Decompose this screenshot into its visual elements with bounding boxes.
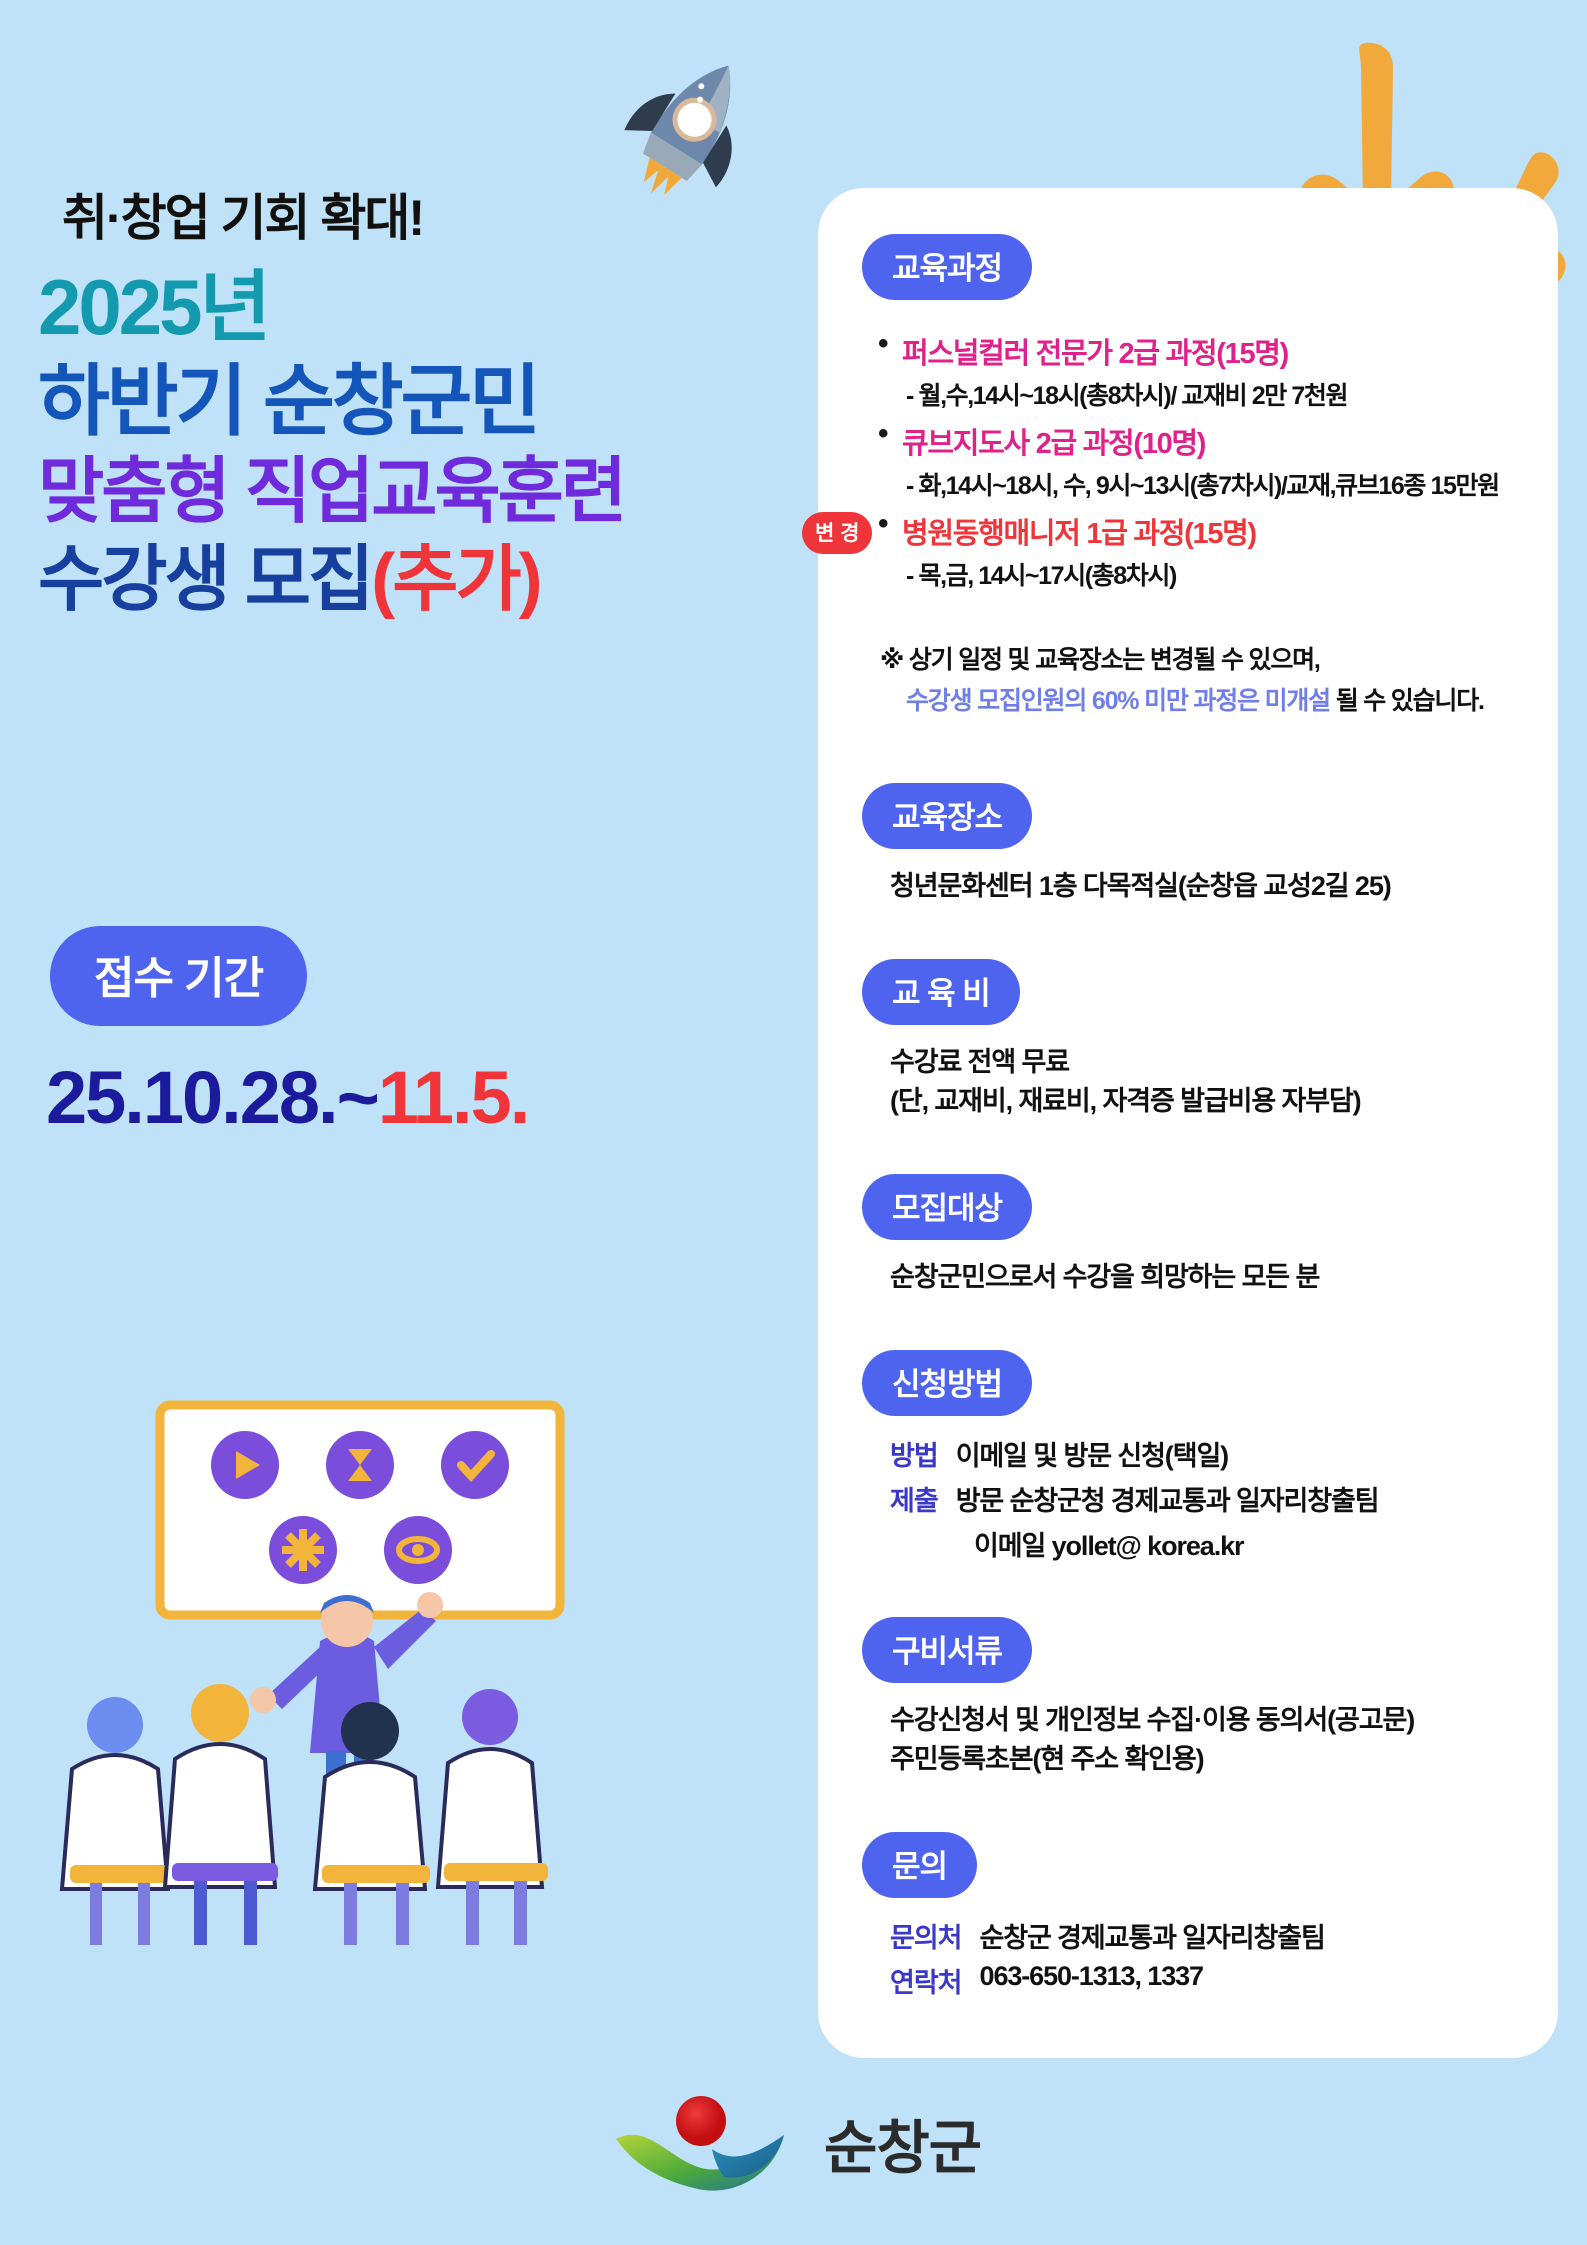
section-documents: 구비서류 수강신청서 및 개인정보 수집·이용 동의서(공고문) 주민등록초본(… (862, 1617, 1514, 1778)
note-tail: 될 수 있습니다. (1330, 687, 1484, 715)
course-name: 퍼스널컬러 전문가 2급 과정(15명) (876, 330, 1514, 372)
pill-target: 모집대상 (862, 1174, 1032, 1240)
pill-documents: 구비서류 (862, 1617, 1032, 1683)
period-label-pill: 접수 기간 (50, 926, 307, 1026)
documents-line-2: 주민등록초본(현 주소 확인용) (890, 1740, 1508, 1778)
pill-contact: 문의 (862, 1832, 977, 1898)
apply-row-method: 방법 이메일 및 방문 신청(택일) (890, 1434, 1508, 1473)
period-dates: 25.10.28.~11.5. (46, 1055, 528, 1140)
contact-key: 문의처 (890, 1916, 962, 1955)
footer: 순창군 (0, 2083, 1587, 2203)
course-item: 큐브지도사 2급 과정(10명) - 화,14시~18시, 수, 9시~13시(… (876, 420, 1514, 502)
info-card: 교육과정 퍼스널컬러 전문가 2급 과정(15명) - 월,수,14시~18시(… (818, 188, 1558, 2058)
course-detail: - 월,수,14시~18시(총8차시)/ 교재비 2만 7천원 (876, 376, 1514, 412)
title-line-region: 하반기 순창군민 (38, 362, 624, 440)
fee-body: 수강료 전액 무료 (단, 교재비, 재료비, 자격증 발급비용 자부담) (862, 1025, 1514, 1120)
poster-kicker: 취·창업 기회 확대! (62, 178, 423, 250)
section-apply: 신청방법 방법 이메일 및 방문 신청(택일) 제출 방문 순창군청 경제교통과… (862, 1350, 1514, 1563)
title-recruit-main: 수강생 모집 (38, 540, 371, 620)
apply-row-submit: 제출 방문 순창군청 경제교통과 일자리창출팀 (890, 1479, 1508, 1518)
curriculum-note: ※ 상기 일정 및 교육장소는 변경될 수 있으며, 수강생 모집인원의 60%… (862, 600, 1514, 717)
title-line-year: 2025년 (38, 268, 624, 346)
contact-value: 063-650-1313, 1337 (980, 1961, 1203, 2000)
apply-key: 방법 (890, 1434, 938, 1473)
documents-body: 수강신청서 및 개인정보 수집·이용 동의서(공고문) 주민등록초본(현 주소 … (862, 1683, 1514, 1778)
target-text: 순창군민으로서 수강을 희망하는 모든 분 (890, 1258, 1508, 1296)
note-line-1: ※ 상기 일정 및 교육장소는 변경될 수 있으며, (880, 640, 1514, 676)
target-body: 순창군민으로서 수강을 희망하는 모든 분 (862, 1240, 1514, 1296)
classroom-presentation-illustration (20, 1395, 740, 1955)
note-line-2: 수강생 모집인원의 60% 미만 과정은 미개설 될 수 있습니다. (880, 681, 1514, 717)
section-fee: 교 육 비 수강료 전액 무료 (단, 교재비, 재료비, 자격증 발급비용 자… (862, 959, 1514, 1120)
fee-line-1: 수강료 전액 무료 (890, 1043, 1508, 1081)
section-curriculum: 교육과정 퍼스널컬러 전문가 2급 과정(15명) - 월,수,14시~18시(… (862, 234, 1514, 717)
course-detail: - 화,14시~18시, 수, 9시~13시(총7차시)/교재,큐브16종 15… (876, 466, 1514, 502)
course-name: 큐브지도사 2급 과정(10명) (876, 420, 1514, 462)
documents-line-1: 수강신청서 및 개인정보 수집·이용 동의서(공고문) (890, 1701, 1508, 1739)
left-column: 취·창업 기회 확대! 2025년 하반기 순창군민 맞춤형 직업교육훈련 수강… (0, 0, 820, 2245)
contact-value: 순창군 경제교통과 일자리창출팀 (980, 1916, 1325, 1955)
course-detail: - 목,금, 14시~17시(총8차시) (876, 556, 1514, 592)
apply-value: 이메일 및 방문 신청(택일) (956, 1434, 1228, 1473)
poster-title: 2025년 하반기 순창군민 맞춤형 직업교육훈련 수강생 모집(추가) (38, 268, 624, 616)
contact-row-phone: 연락처 063-650-1313, 1337 (890, 1961, 1508, 2000)
apply-body: 방법 이메일 및 방문 신청(택일) 제출 방문 순창군청 경제교통과 일자리창… (862, 1416, 1514, 1563)
title-recruit-addition: (추가) (371, 540, 539, 620)
section-place: 교육장소 청년문화센터 1층 다목적실(순창읍 교성2길 25) (862, 783, 1514, 905)
footer-org-name: 순창군 (824, 2101, 981, 2185)
section-target: 모집대상 순창군민으로서 수강을 희망하는 모든 분 (862, 1174, 1514, 1296)
fee-line-2: (단, 교재비, 재료비, 자격증 발급비용 자부담) (890, 1082, 1508, 1120)
period-start: 25.10.28.~ (46, 1056, 378, 1139)
pill-fee: 교 육 비 (862, 959, 1020, 1025)
apply-key: 제출 (890, 1479, 938, 1518)
sunchang-gun-logo (606, 2083, 806, 2203)
section-contact: 문의 문의처 순창군 경제교통과 일자리창출팀 연락처 063-650-1313… (862, 1832, 1514, 2000)
change-badge: 변 경 (802, 512, 872, 554)
pill-apply: 신청방법 (862, 1350, 1032, 1416)
pill-place: 교육장소 (862, 783, 1032, 849)
poster-root: 취·창업 기회 확대! 2025년 하반기 순창군민 맞춤형 직업교육훈련 수강… (0, 0, 1587, 2245)
course-name: 병원동행매니저 1급 과정(15명) (876, 510, 1514, 552)
title-line-recruit: 수강생 모집(추가) (38, 544, 624, 616)
contact-body: 문의처 순창군 경제교통과 일자리창출팀 연락처 063-650-1313, 1… (862, 1898, 1514, 2000)
contact-row-office: 문의처 순창군 경제교통과 일자리창출팀 (890, 1916, 1508, 1955)
contact-key: 연락처 (890, 1961, 962, 2000)
title-line-program: 맞춤형 직업교육훈련 (38, 456, 624, 528)
place-body: 청년문화센터 1층 다목적실(순창읍 교성2길 25) (862, 849, 1514, 905)
apply-email: 이메일 yollet@ korea.kr (890, 1524, 1508, 1563)
period-end: 11.5. (378, 1056, 529, 1139)
course-item: 변 경 병원동행매니저 1급 과정(15명) - 목,금, 14시~17시(총8… (876, 510, 1514, 592)
place-text: 청년문화센터 1층 다목적실(순창읍 교성2길 25) (890, 867, 1508, 905)
pill-curriculum: 교육과정 (862, 234, 1032, 300)
course-item: 퍼스널컬러 전문가 2급 과정(15명) - 월,수,14시~18시(총8차시)… (876, 330, 1514, 412)
apply-value: 방문 순창군청 경제교통과 일자리창출팀 (956, 1479, 1379, 1518)
note-highlight: 수강생 모집인원의 60% 미만 과정은 미개설 (906, 687, 1330, 715)
course-list: 퍼스널컬러 전문가 2급 과정(15명) - 월,수,14시~18시(총8차시)… (862, 300, 1514, 592)
